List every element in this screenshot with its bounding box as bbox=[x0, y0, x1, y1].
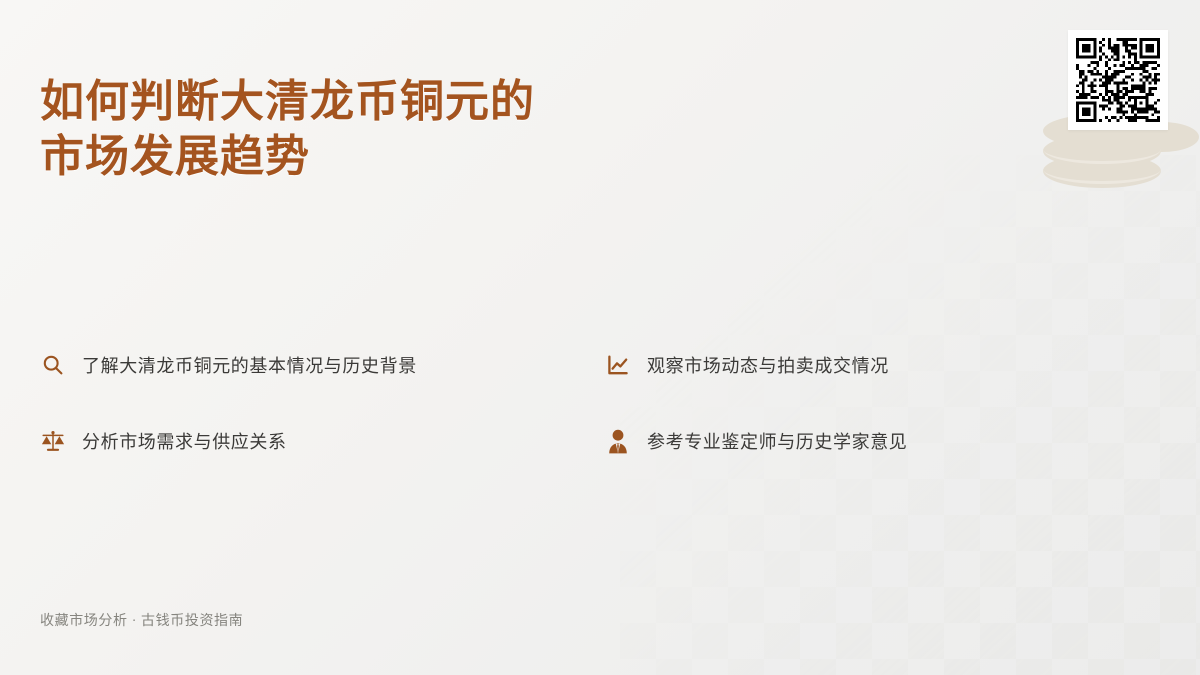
slide-canvas: 如何判断大清龙币铜元的 市场发展趋势 了解大清龙币铜元的基本情况与历史背景 观察… bbox=[0, 0, 1200, 675]
key-point-label: 分析市场需求与供应关系 bbox=[82, 428, 287, 456]
coin-rim bbox=[1043, 154, 1161, 184]
key-point-1[interactable]: 了解大清龙币铜元的基本情况与历史背景 bbox=[40, 352, 605, 380]
key-point-label: 了解大清龙币铜元的基本情况与历史背景 bbox=[82, 352, 417, 380]
coin-rim bbox=[1043, 134, 1161, 164]
qr-code-canvas bbox=[1076, 38, 1160, 122]
scales-icon bbox=[40, 426, 66, 456]
key-point-3[interactable]: 分析市场需求与供应关系 bbox=[40, 428, 605, 456]
footer-caption: 收藏市场分析 · 古钱币投资指南 bbox=[40, 610, 243, 630]
key-point-2[interactable]: 观察市场动态与拍卖成交情况 bbox=[605, 352, 990, 380]
title-line-2: 市场发展趋势 bbox=[40, 129, 680, 184]
title-line-1: 如何判断大清龙币铜元的 bbox=[40, 74, 680, 129]
key-points-grid: 了解大清龙币铜元的基本情况与历史背景 观察市场动态与拍卖成交情况 bbox=[40, 352, 990, 504]
page-title: 如何判断大清龙币铜元的 市场发展趋势 bbox=[40, 74, 680, 185]
qr-code[interactable] bbox=[1068, 30, 1168, 130]
line-chart-icon bbox=[605, 350, 631, 380]
key-point-label: 观察市场动态与拍卖成交情况 bbox=[647, 352, 889, 380]
key-point-label: 参考专业鉴定师与历史学家意见 bbox=[647, 428, 907, 456]
coin-disc bbox=[1043, 134, 1161, 168]
key-point-4[interactable]: 参考专业鉴定师与历史学家意见 bbox=[605, 428, 990, 456]
coin-disc bbox=[1043, 154, 1161, 188]
expert-icon bbox=[605, 426, 631, 456]
search-icon bbox=[40, 350, 66, 380]
